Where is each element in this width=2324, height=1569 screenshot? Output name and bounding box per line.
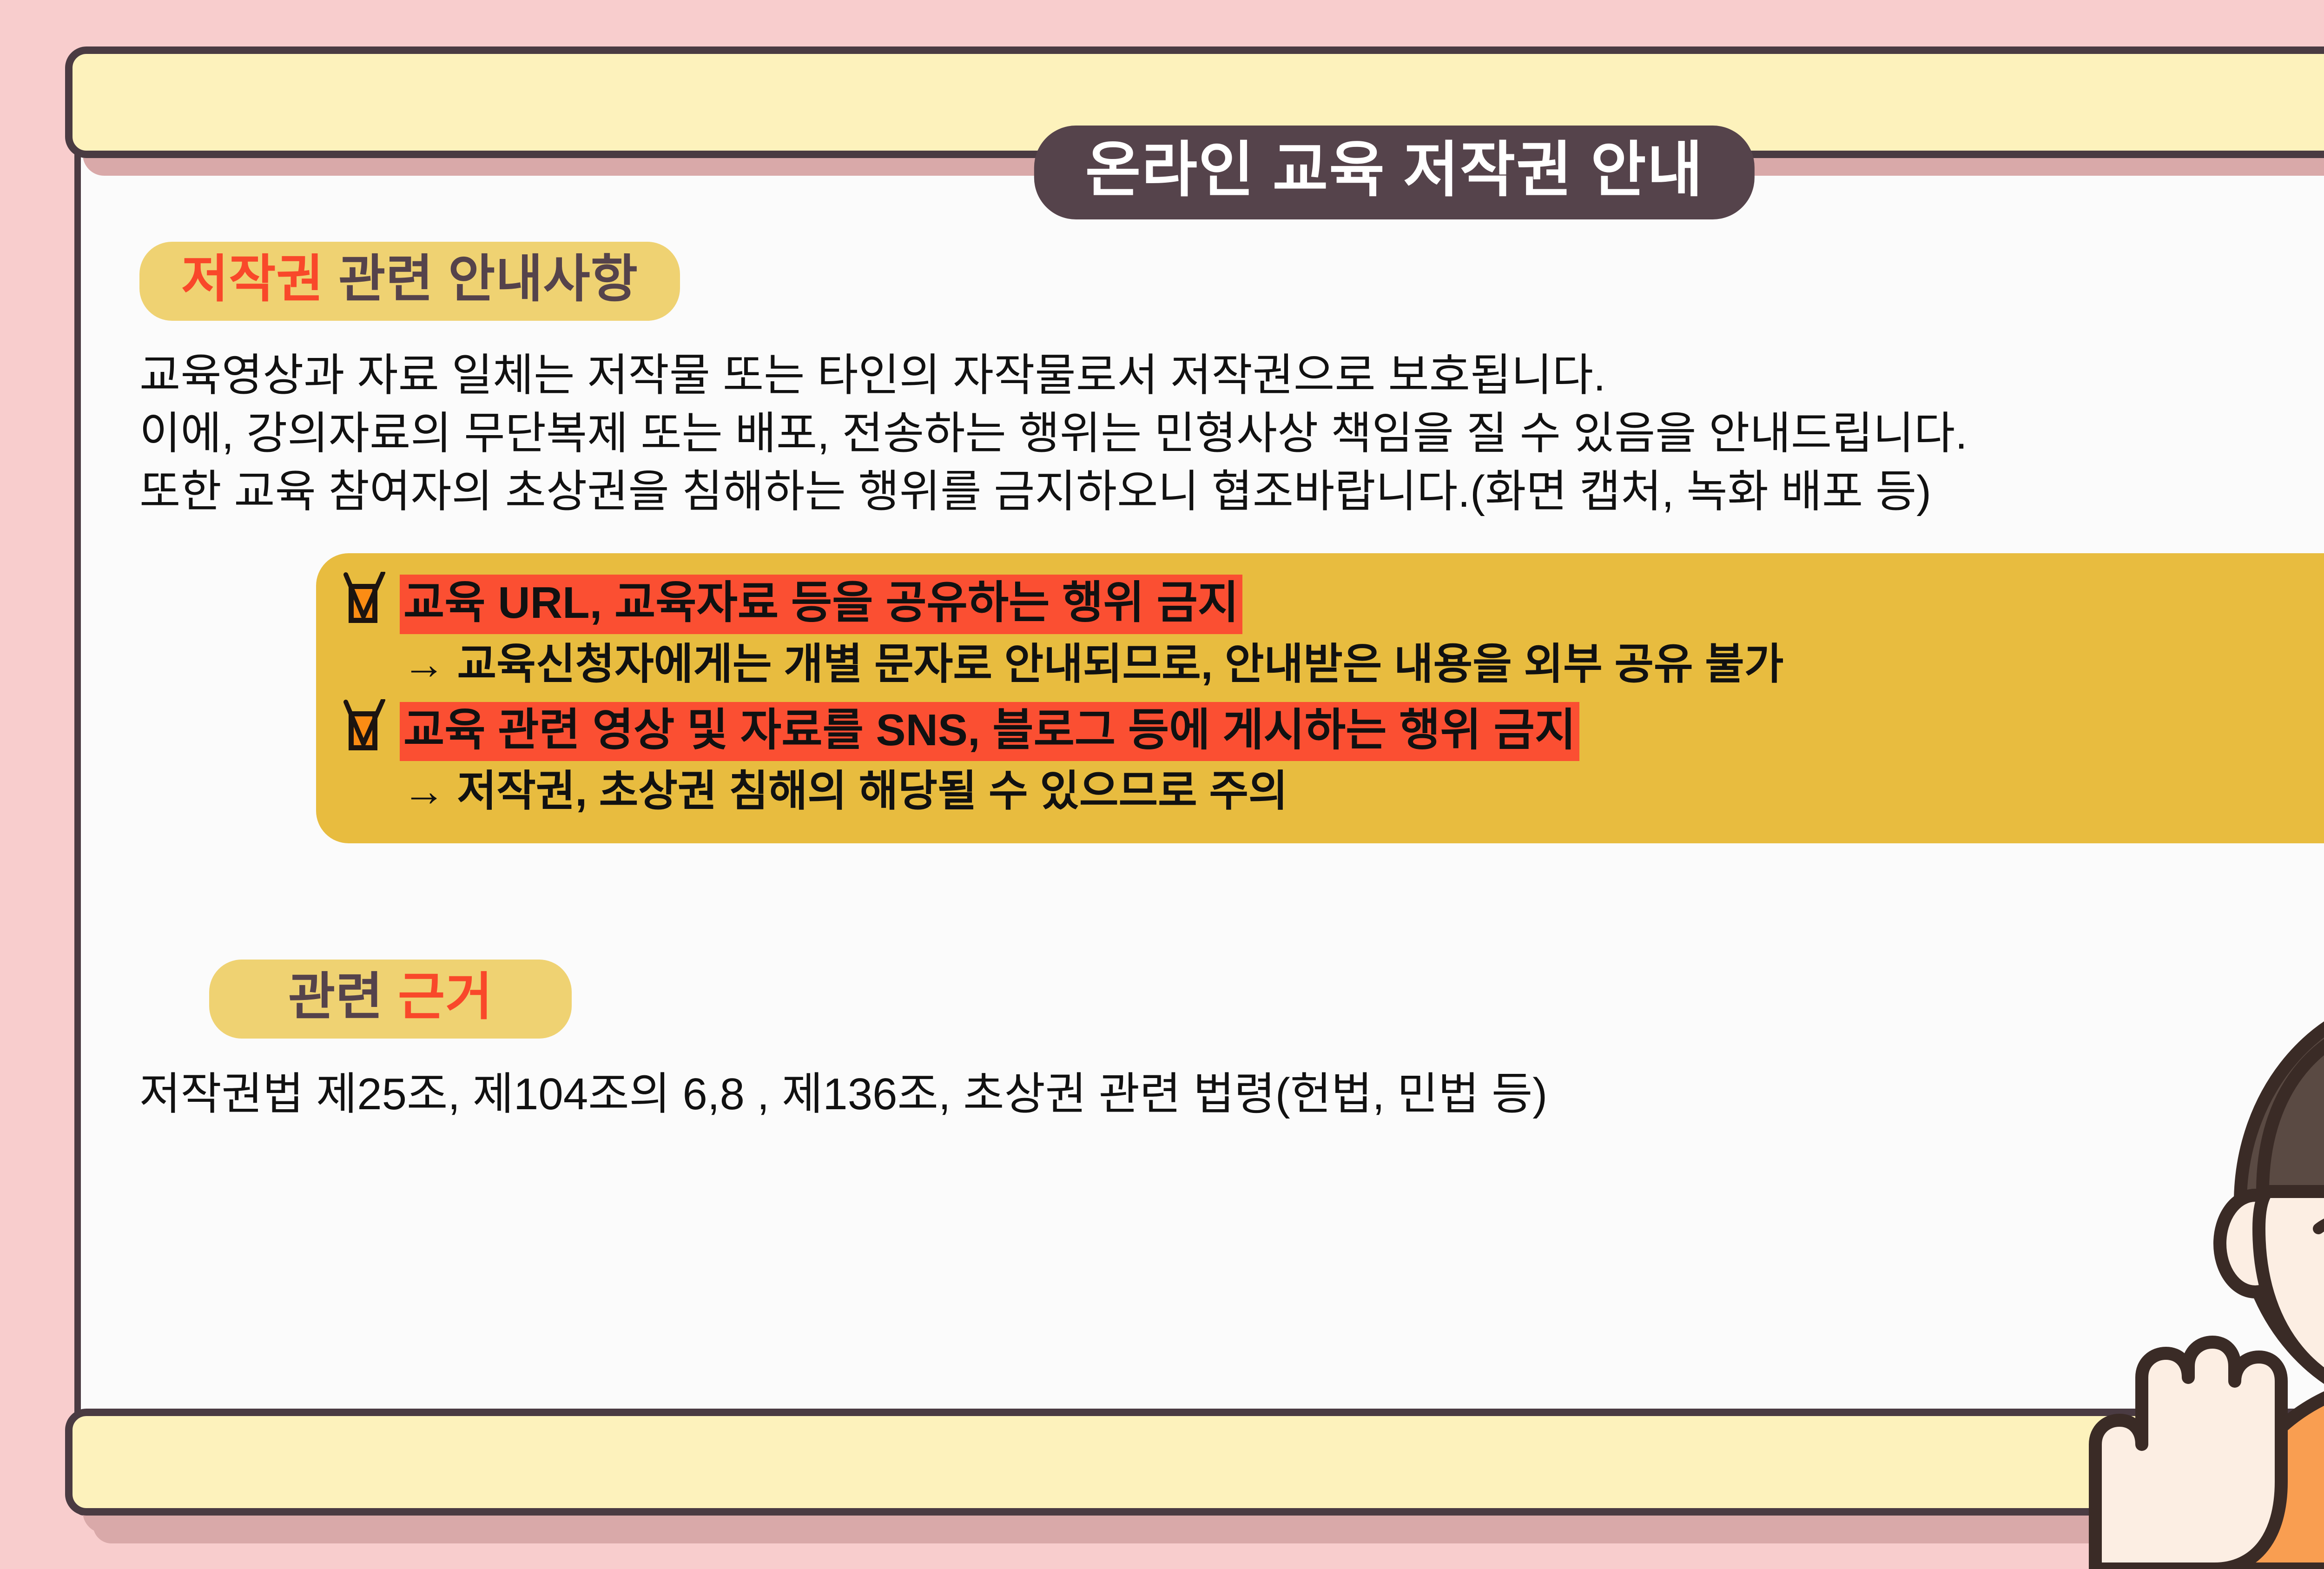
section-header-legal-row: 관련 근거 bbox=[139, 960, 2324, 1039]
slide-canvas: 온라인 교육 저작권 안내 저작권 관련 안내사 bbox=[0, 0, 2324, 1569]
section-header-accent-text: 저작권 bbox=[181, 251, 324, 308]
stop-hand-icon bbox=[2095, 1342, 2281, 1569]
paragraph-line-1: 교육영상과 자료 일체는 저작물 또는 타인의 자작물로서 저작권으로 보호됩니… bbox=[139, 347, 2324, 405]
legal-header-accent-text: 근거 bbox=[398, 968, 493, 1026]
slide-content: 저작권 관련 안내사항 교육영상과 자료 일체는 저작물 또는 타인의 자작물로… bbox=[139, 242, 2324, 1122]
section-header-dark-text: 관련 안내사항 bbox=[338, 251, 638, 308]
checkbox-checked-icon-2 bbox=[344, 707, 385, 753]
notice-item-2-detail: → 저작권, 초상권 침해의 해당될 수 있으므로 주의 bbox=[403, 766, 2324, 817]
prohibition-notice-box: 교육 URL, 교육자료 등을 공유하는 행위 금지 → 교육신청자에게는 개별… bbox=[316, 553, 2324, 843]
notice-item-2: 교육 관련 영상 및 자료를 SNS, 블로그 등에 게시하는 행위 금지 bbox=[344, 702, 2324, 761]
person-stop-gesture-icon bbox=[2054, 983, 2324, 1569]
section-header-legal: 관련 근거 bbox=[209, 960, 572, 1039]
section-header-copyright: 저작권 관련 안내사항 bbox=[139, 242, 680, 321]
page-title: 온라인 교육 저작권 안내 bbox=[1034, 126, 1755, 219]
checkbox-checked-icon bbox=[344, 579, 385, 626]
notice-item-1: 교육 URL, 교육자료 등을 공유하는 행위 금지 bbox=[344, 575, 2324, 634]
legal-basis-text: 저작권법 제25조, 제104조의 6,8 , 제136조, 초상권 관련 법령… bbox=[139, 1066, 2324, 1122]
legal-header-dark-text: 관련 bbox=[288, 968, 383, 1026]
paragraph-line-2: 이에, 강의자료의 무단복제 또는 배포, 전송하는 행위는 민형사상 책임을 … bbox=[139, 405, 2324, 463]
paragraph-line-3: 또한 교육 참여자의 초상권을 침해하는 행위를 금지하오니 협조바랍니다.(화… bbox=[139, 463, 2324, 521]
notice-item-1-highlight: 교육 URL, 교육자료 등을 공유하는 행위 금지 bbox=[400, 575, 1242, 634]
notice-item-1-detail: → 교육신청자에게는 개별 문자로 안내되므로, 안내받은 내용을 외부 공유 … bbox=[403, 639, 2324, 690]
bottom-rail bbox=[65, 1409, 2324, 1516]
page-title-text: 온라인 교육 저작권 안내 bbox=[1085, 136, 1703, 204]
copyright-paragraph: 교육영상과 자료 일체는 저작물 또는 타인의 자작물로서 저작권으로 보호됩니… bbox=[139, 347, 2324, 521]
notice-item-2-highlight: 교육 관련 영상 및 자료를 SNS, 블로그 등에 게시하는 행위 금지 bbox=[400, 702, 1579, 761]
